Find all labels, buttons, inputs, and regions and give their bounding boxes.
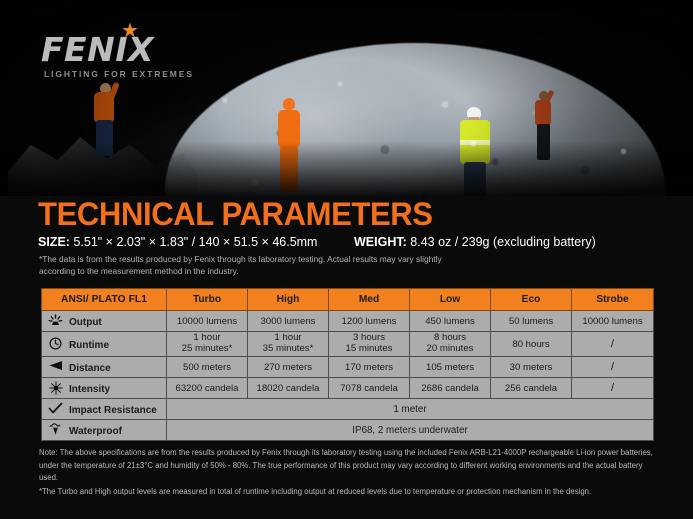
specifications-table: ANSI/ PLATO FL1 Turbo High Med Low Eco S… <box>41 288 653 441</box>
table-row: Intensity 63200 candela 18020 candela 70… <box>42 378 654 399</box>
water-drop-icon <box>46 423 65 437</box>
row-label-text: Intensity <box>69 384 110 395</box>
cell-runtime-turbo: 1 hour25 minutes* <box>167 332 248 357</box>
cell-output-low: 450 lumens <box>410 311 491 332</box>
column-header-standard: ANSI/ PLATO FL1 <box>42 289 167 311</box>
cell-runtime-high: 1 hour35 minutes* <box>248 332 329 357</box>
beam-icon <box>46 360 65 374</box>
fenix-logo: ★ FENIX LIGHTING FOR EXTREMES <box>41 33 194 79</box>
row-label-text: Distance <box>69 363 111 374</box>
cell-distance-turbo: 500 meters <box>167 357 248 378</box>
checkmark-icon <box>46 402 65 416</box>
row-label-text: Impact Resistance <box>69 405 157 416</box>
cell-runtime-strobe: / <box>572 332 654 357</box>
column-header-eco: Eco <box>491 289 572 311</box>
column-header-med: Med <box>329 289 410 311</box>
cell-output-strobe: 10000 lumens <box>572 311 654 332</box>
column-header-high: High <box>248 289 329 311</box>
cell-intensity-turbo: 63200 candela <box>167 378 248 399</box>
footer-notes: Note: The above specifications are from … <box>39 447 657 499</box>
cell-distance-high: 270 meters <box>248 357 329 378</box>
cell-intensity-high: 18020 candela <box>248 378 329 399</box>
table-header-row: ANSI/ PLATO FL1 Turbo High Med Low Eco S… <box>42 289 654 311</box>
table-row: Output 10000 lumens 3000 lumens 1200 lum… <box>42 311 654 332</box>
weight-value: 8.43 oz / 239g (excluding battery) <box>410 235 596 249</box>
column-header-strobe: Strobe <box>572 289 654 311</box>
note-line-2: *The Turbo and High output levels are me… <box>39 486 657 499</box>
cell-distance-low: 105 meters <box>410 357 491 378</box>
row-label-impact-resistance: Impact Resistance <box>42 399 167 420</box>
cell-distance-eco: 30 meters <box>491 357 572 378</box>
size-value: 5.51" × 2.03" × 1.83" / 140 × 51.5 × 46.… <box>73 235 317 249</box>
star-icon: ★ <box>121 22 139 40</box>
row-label-intensity: Intensity <box>42 378 167 399</box>
cell-intensity-strobe: / <box>572 378 654 399</box>
row-label-text: Runtime <box>69 340 109 351</box>
page-title: TECHNICAL PARAMETERS <box>38 196 433 233</box>
cell-waterproof-value: IP68, 2 meters underwater <box>167 420 654 441</box>
row-label-output: Output <box>42 311 167 332</box>
size-spec: SIZE: 5.51" × 2.03" × 1.83" / 140 × 51.5… <box>38 235 317 249</box>
cell-impact-resistance-value: 1 meter <box>167 399 654 420</box>
weight-label: WEIGHT: <box>354 235 407 249</box>
logo-tagline: LIGHTING FOR EXTREMES <box>44 69 194 79</box>
spec-summary-line: SIZE: 5.51" × 2.03" × 1.83" / 140 × 51.5… <box>38 235 658 250</box>
cell-runtime-med: 3 hours15 minutes <box>329 332 410 357</box>
row-label-runtime: Runtime <box>42 332 167 357</box>
cell-output-high: 3000 lumens <box>248 311 329 332</box>
table-row: Distance 500 meters 270 meters 170 meter… <box>42 357 654 378</box>
starburst-icon <box>46 381 65 395</box>
column-header-low: Low <box>410 289 491 311</box>
clock-icon <box>46 337 65 351</box>
cell-output-med: 1200 lumens <box>329 311 410 332</box>
note-line-1: Note: The above specifications are from … <box>39 447 657 485</box>
cell-runtime-low: 8 hours20 minutes <box>410 332 491 357</box>
cell-runtime-eco: 80 hours <box>491 332 572 357</box>
cell-output-turbo: 10000 lumens <box>167 311 248 332</box>
table-row: Runtime 1 hour25 minutes* 1 hour35 minut… <box>42 332 654 357</box>
column-header-turbo: Turbo <box>167 289 248 311</box>
row-label-distance: Distance <box>42 357 167 378</box>
light-burst-icon <box>46 314 65 328</box>
cell-intensity-low: 2686 candela <box>410 378 491 399</box>
size-label: SIZE: <box>38 235 70 249</box>
row-label-text: Waterproof <box>69 426 122 437</box>
cell-distance-med: 170 meters <box>329 357 410 378</box>
row-label-text: Output <box>69 317 102 328</box>
cell-intensity-med: 7078 candela <box>329 378 410 399</box>
logo-wordmark: FENIX <box>41 33 194 66</box>
table-row: Waterproof IP68, 2 meters underwater <box>42 420 654 441</box>
table-row: Impact Resistance 1 meter <box>42 399 654 420</box>
row-label-waterproof: Waterproof <box>42 420 167 441</box>
cell-intensity-eco: 256 candela <box>491 378 572 399</box>
weight-spec: WEIGHT: 8.43 oz / 239g (excluding batter… <box>354 235 596 249</box>
product-spec-page: ★ FENIX LIGHTING FOR EXTREMES TECHNICAL … <box>0 0 693 519</box>
cell-output-eco: 50 lumens <box>491 311 572 332</box>
measurement-disclaimer: *The data is from the results produced b… <box>39 254 469 278</box>
cell-distance-strobe: / <box>572 357 654 378</box>
